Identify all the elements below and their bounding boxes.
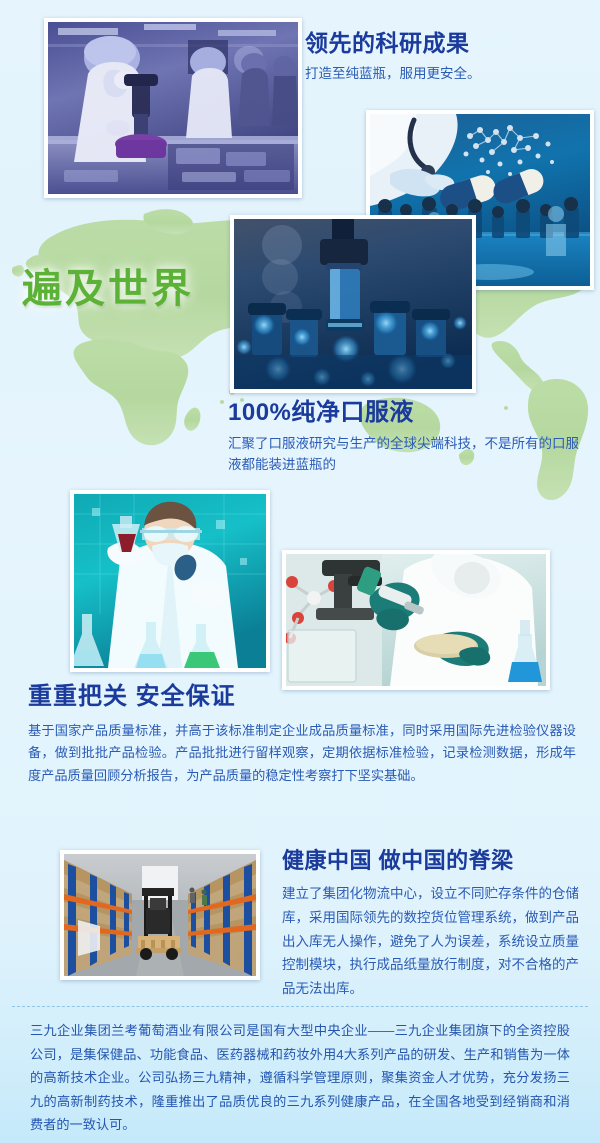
health-text-block: 健康中国 做中国的脊梁 建立了集团化物流中心，设立不同贮存条件的仓储库，采用国际… (282, 848, 582, 1000)
research-body: 打造至纯蓝瓶，服用更安全。 (305, 64, 595, 85)
vial-production-image (234, 219, 472, 389)
research-text-block: 领先的科研成果 打造至纯蓝瓶，服用更安全。 (305, 30, 595, 85)
company-intro-footer: 三九企业集团兰考葡萄酒业有限公司是国有大型中央企业——三九企业集团旗下的全资控股… (12, 1006, 588, 1143)
chemist-flasks-image (74, 494, 266, 668)
warehouse-forklift-image (64, 854, 256, 976)
technician-petri-image (286, 554, 546, 686)
product-detail-page: 领先的科研成果 打造至纯蓝瓶，服用更安全。 (0, 0, 600, 1143)
chemist-flasks-photo (70, 490, 270, 672)
map-title: 遍及世界 (22, 256, 194, 314)
cleanroom-microscope-image (48, 22, 298, 194)
quality-body: 基于国家产品质量标准，并高于该标准制定企业成品质量标准，同时采用国际先进检验仪器… (28, 720, 576, 788)
oral-liquid-heading: 100%纯净口服液 (228, 399, 588, 427)
petri-dish-photo (282, 550, 550, 690)
quality-text-block: 重重把关 安全保证 基于国家产品质量标准，并高于该标准制定企业成品质量标准，同时… (28, 683, 576, 788)
blue-vials-photo (230, 215, 476, 393)
research-heading: 领先的科研成果 (305, 30, 595, 56)
health-heading: 健康中国 做中国的脊梁 (282, 848, 582, 873)
cleanroom-lab-photo (44, 18, 302, 198)
health-body: 建立了集团化物流中心，设立不同贮存条件的仓储库，采用国际领先的数控货位管理系统，… (282, 882, 582, 1000)
warehouse-photo (60, 850, 260, 980)
oral-liquid-body: 汇聚了口服液研究与生产的全球尖端科技，不是所有的口服液都能装进蓝瓶的 (228, 434, 588, 476)
oral-liquid-text-block: 100%纯净口服液 汇聚了口服液研究与生产的全球尖端科技，不是所有的口服液都能装… (228, 399, 588, 475)
quality-heading: 重重把关 安全保证 (28, 683, 576, 711)
company-intro-text: 三九企业集团兰考葡萄酒业有限公司是国有大型中央企业——三九企业集团旗下的全资控股… (30, 1019, 570, 1137)
